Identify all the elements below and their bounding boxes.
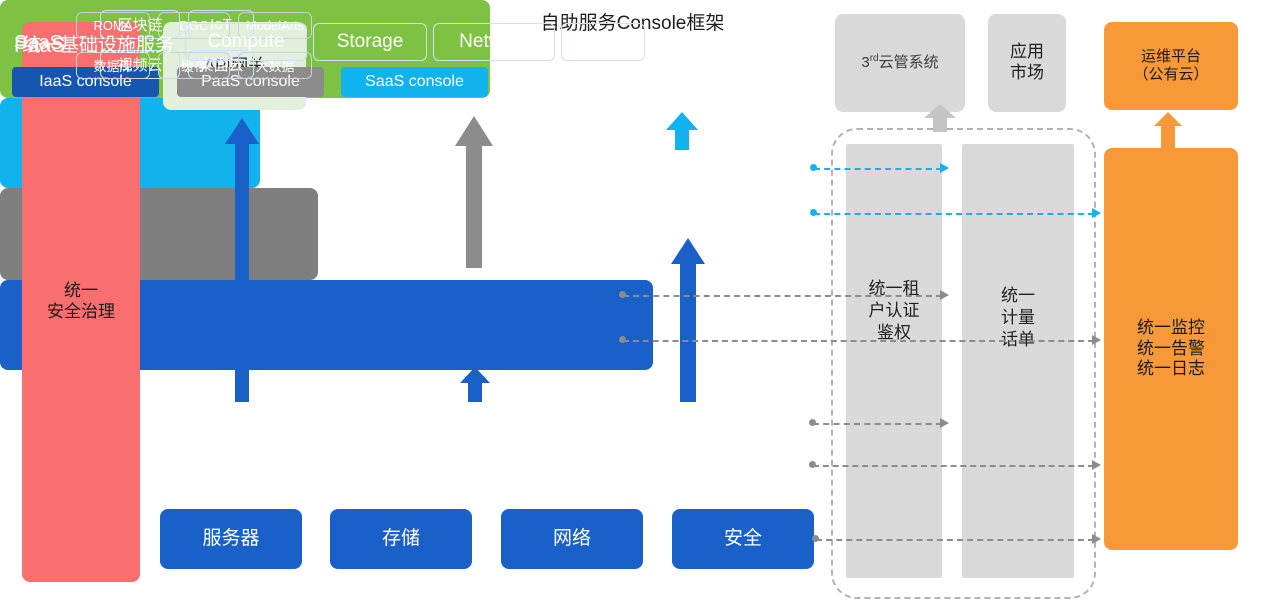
ops-top-line-1: 运维平台 xyxy=(1133,48,1208,66)
tenant-auth-line-2: 户认证 xyxy=(846,300,942,322)
saas-console-chip[interactable]: SaaS console xyxy=(341,67,488,97)
ops-platform-header-box: 运维平台 （公有云） xyxy=(1104,22,1238,110)
connector-paas-to-tenant-auth xyxy=(623,295,942,297)
infra-chip-storage[interactable]: Storage xyxy=(313,23,427,61)
ops-line-1: 统一监控 xyxy=(1137,318,1205,339)
infra-chip-network[interactable]: Network xyxy=(433,23,555,61)
metering-billing-column xyxy=(962,144,1074,578)
connector-paas-to-ops xyxy=(623,340,1094,342)
connector-saas-to-ops xyxy=(814,213,1094,215)
arrowhead-saas-to-tenant-auth xyxy=(940,163,949,173)
unified-security-governance-panel: 统一 安全治理 xyxy=(22,22,140,582)
app-market-line-1: 应用 xyxy=(1010,42,1044,63)
arrowhead-hardware-to-ops xyxy=(1092,534,1101,544)
arrow-paas-to-console xyxy=(452,116,496,268)
ops-line-3: 统一日志 xyxy=(1137,359,1205,380)
metering-line-2: 计量 xyxy=(962,307,1074,329)
architecture-diagram: 统一 安全治理 API网关 自助服务Console框架 IaaS console… xyxy=(0,0,1265,605)
tenant-auth-column xyxy=(846,144,942,578)
security-line-2: 安全治理 xyxy=(47,302,115,323)
third-party-cloud-management-box: 3rd云管系统 xyxy=(835,14,965,112)
ops-platform-panel: 统一监控 统一告警 统一日志 xyxy=(1104,148,1238,550)
connector-hardware-to-ops xyxy=(816,539,1094,541)
arrow-to-third-cloud xyxy=(922,104,958,132)
ops-line-2: 统一告警 xyxy=(1137,339,1205,360)
arrow-to-ops-platform xyxy=(1152,112,1184,150)
tenant-auth-label: 统一租 户认证 鉴权 xyxy=(846,278,942,343)
hardware-box-storage[interactable]: 存储 xyxy=(330,509,472,569)
arrow-infra-to-paas xyxy=(458,367,492,402)
security-line-1: 统一 xyxy=(47,281,115,302)
arrowhead-paas-to-tenant-auth xyxy=(940,290,949,300)
third-cloud-label: 3rd云管系统 xyxy=(861,53,938,72)
arrow-saas-to-console xyxy=(664,112,700,150)
app-market-line-2: 市场 xyxy=(1010,63,1044,84)
hardware-box-server[interactable]: 服务器 xyxy=(160,509,302,569)
hardware-box-security[interactable]: 安全 xyxy=(672,509,814,569)
connector-infra-to-tenant-auth xyxy=(813,423,942,425)
metering-line-1: 统一 xyxy=(962,285,1074,307)
infra-chip-cce[interactable]: CCE xyxy=(561,23,645,61)
arrowhead-saas-to-ops xyxy=(1092,208,1101,218)
app-market-box: 应用 市场 xyxy=(988,14,1066,112)
hardware-box-network[interactable]: 网络 xyxy=(501,509,643,569)
arrow-infra-to-saas xyxy=(668,238,708,402)
connector-saas-to-tenant-auth xyxy=(814,168,942,170)
infrastructure-label: 统一基础设施服务 xyxy=(22,30,174,57)
ops-top-line-2: （公有云） xyxy=(1133,66,1208,84)
connector-infra-to-ops xyxy=(813,465,1094,467)
infra-chip-compute[interactable]: Compute xyxy=(185,23,307,61)
arrowhead-infra-to-ops xyxy=(1092,460,1101,470)
arrowhead-infra-to-tenant-auth xyxy=(940,418,949,428)
arrowhead-paas-to-ops xyxy=(1092,335,1101,345)
arrow-infra-to-api-gateway xyxy=(222,118,262,402)
